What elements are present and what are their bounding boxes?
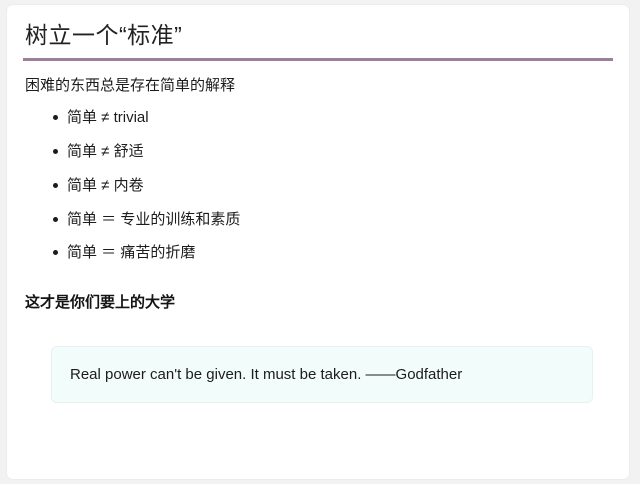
list-item: 简单 ＝ 痛苦的折磨	[19, 242, 617, 264]
list-item: 简单 ＝ 专业的训练和素质	[19, 209, 617, 231]
quote-text: Real power can't be given. It must be ta…	[70, 364, 574, 385]
bullet-list: 简单 ≠ trivial 简单 ≠ 舒适 简单 ≠ 内卷 简单 ＝ 专业的训练和…	[19, 107, 617, 264]
intro-paragraph: 困难的东西总是存在简单的解释	[19, 61, 617, 98]
list-item: 简单 ≠ trivial	[19, 107, 617, 129]
emphasis-statement: 这才是你们要上的大学	[19, 276, 617, 313]
page-title: 树立一个“标准”	[19, 5, 617, 57]
list-item: 简单 ≠ 内卷	[19, 175, 617, 197]
list-item: 简单 ≠ 舒适	[19, 141, 617, 163]
slide-card: 树立一个“标准” 困难的东西总是存在简单的解释 简单 ≠ trivial 简单 …	[6, 4, 630, 480]
slide-body: 树立一个“标准” 困难的东西总是存在简单的解释 简单 ≠ trivial 简单 …	[7, 5, 629, 403]
quote-callout-box: Real power can't be given. It must be ta…	[51, 346, 593, 403]
